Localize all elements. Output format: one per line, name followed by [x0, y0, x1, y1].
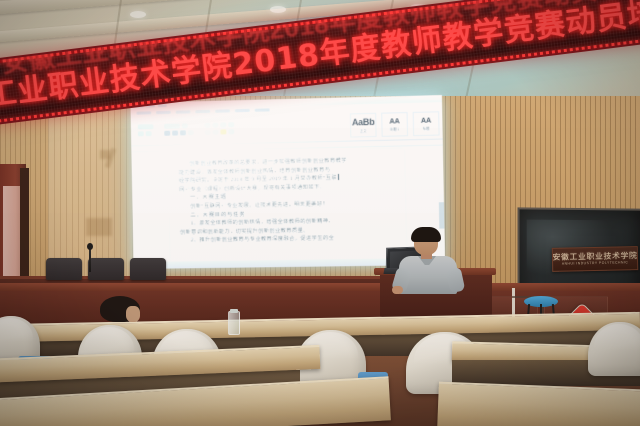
chair-cover-fold: [0, 318, 33, 352]
paste-icon[interactable]: [138, 124, 154, 129]
stage-chair[interactable]: [46, 258, 82, 280]
style-sample: AaBb: [352, 117, 375, 127]
italic-icon[interactable]: [172, 131, 178, 136]
microphone[interactable]: [89, 248, 91, 272]
indent-icon[interactable]: [228, 122, 234, 127]
water-bottle[interactable]: [228, 311, 240, 335]
styles-gallery[interactable]: AaBb 正文 AA 标题 1 AA 标题: [350, 111, 440, 137]
numbering-icon[interactable]: [212, 123, 218, 128]
tab-references[interactable]: [215, 109, 230, 112]
copy-icon[interactable]: [146, 131, 152, 136]
style-name: 标题: [423, 125, 430, 130]
school-name-sign: 安徽工业职业技术学院 ANHUI INDUSTRY POLYTECHNIC: [552, 246, 638, 272]
borders-icon[interactable]: [228, 129, 234, 134]
text-color-icon[interactable]: [188, 130, 194, 135]
text-caret: [338, 174, 339, 180]
font-family-select[interactable]: [164, 124, 180, 129]
school-name-english: ANHUI INDUSTRY POLYTECHNIC: [562, 260, 629, 266]
document-page[interactable]: 创新创业教育改革的总要求，进一步加强教师创新创业教育教学 能力建设，激发全体教师…: [169, 148, 407, 264]
style-heading[interactable]: AA 标题: [413, 111, 440, 136]
lecture-hall-photo: 安徽工业职业技术学院2018年度教师教学竞赛动员培训会: [0, 0, 640, 426]
bottle-cap: [230, 309, 238, 313]
ceiling-lamp: [270, 6, 286, 13]
microphone-head: [87, 243, 93, 250]
tab-home[interactable]: [156, 110, 171, 113]
ceiling-lamp: [130, 11, 146, 18]
style-name: 正文: [360, 128, 367, 133]
clipboard-group[interactable]: [135, 117, 158, 143]
paragraph-group[interactable]: [201, 115, 238, 142]
align-center-icon[interactable]: [212, 130, 218, 135]
font-size-select[interactable]: [182, 123, 188, 128]
style-sample: AA: [421, 117, 431, 124]
bullets-icon[interactable]: [204, 123, 210, 128]
font-group[interactable]: [161, 116, 198, 143]
style-heading-1[interactable]: AA 标题 1: [381, 112, 408, 137]
stage-chair[interactable]: [130, 258, 166, 280]
chair-cover: [588, 322, 640, 376]
stage-chair[interactable]: [88, 258, 124, 280]
presenter: [398, 228, 460, 290]
audience-chair[interactable]: [588, 322, 640, 376]
tab-insert[interactable]: [176, 110, 191, 113]
stage-rail: [0, 283, 640, 291]
cut-icon[interactable]: [138, 131, 144, 136]
tab-file[interactable]: [136, 111, 151, 114]
presenter-hand: [392, 286, 403, 294]
align-left-icon[interactable]: [205, 130, 211, 135]
multilevel-icon[interactable]: [220, 122, 226, 127]
tab-layout[interactable]: [195, 109, 210, 112]
presenter-hair: [411, 227, 441, 242]
underline-icon[interactable]: [180, 130, 186, 135]
tab-view[interactable]: [255, 108, 270, 111]
audience-face: [126, 306, 140, 322]
wall-mark: [86, 218, 112, 236]
style-name: 标题 1: [390, 126, 400, 131]
scrollbar-thumb[interactable]: [439, 202, 445, 228]
style-normal[interactable]: AaBb 正文: [350, 113, 377, 138]
audience-desk-row-front-right: [437, 382, 640, 426]
bold-icon[interactable]: [164, 131, 170, 136]
tab-review[interactable]: [235, 108, 250, 111]
style-sample: AA: [389, 118, 399, 125]
chair-cover-fold: [594, 324, 640, 362]
shading-icon[interactable]: [220, 129, 226, 134]
